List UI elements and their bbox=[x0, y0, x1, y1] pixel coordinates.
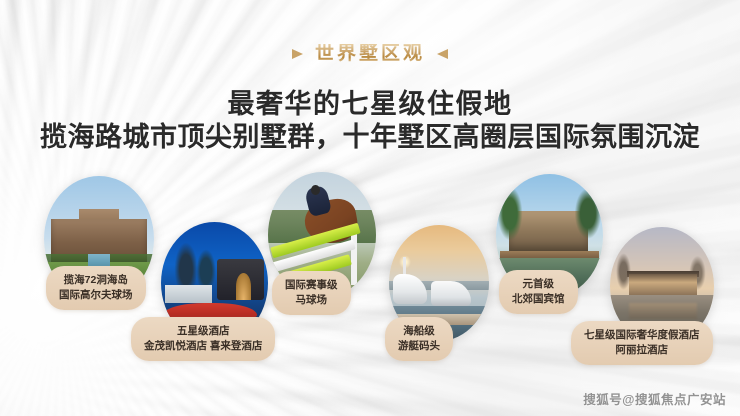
amenity-caption-line2: 阿丽拉酒店 bbox=[584, 343, 700, 358]
eyebrow-label: 世界墅区观 bbox=[315, 44, 425, 63]
slide-canvas: 世界墅区观 最奢华的七星级住假地 揽海路城市顶尖别墅群，十年墅区高圈层国际氛围沉… bbox=[0, 0, 740, 416]
amenity-caption-golf: 揽海72洞海岛 国际高尔夫球场 bbox=[46, 266, 146, 310]
amenity-caption-five-star-hotels: 五星级酒店 金茂凯悦酒店 喜来登酒店 bbox=[131, 317, 275, 361]
amenity-caption-line2: 金茂凯悦酒店 喜来登酒店 bbox=[144, 339, 262, 354]
headline-secondary: 揽海路城市顶尖别墅群，十年墅区高圈层国际氛围沉淀 bbox=[0, 115, 740, 154]
amenity-caption-line2: 游艇码头 bbox=[398, 339, 440, 354]
watermark: 搜狐号@搜狐焦点广安站 bbox=[583, 389, 726, 408]
slide-content: 世界墅区观 最奢华的七星级住假地 揽海路城市顶尖别墅群，十年墅区高圈层国际氛围沉… bbox=[0, 0, 740, 416]
amenity-caption-line1: 国际赛事级 bbox=[285, 278, 338, 293]
amenity-caption-state-guesthouse: 元首级 北郊国宾馆 bbox=[499, 270, 578, 314]
amenity-caption-polo-field: 国际赛事级 马球场 bbox=[272, 271, 351, 315]
amenity-caption-line1: 元首级 bbox=[512, 277, 565, 292]
amenity-caption-yacht-marina: 海船级 游艇码头 bbox=[385, 317, 453, 361]
amenity-caption-line2: 北郊国宾馆 bbox=[512, 292, 565, 307]
amenity-caption-line1: 海船级 bbox=[398, 324, 440, 339]
amenity-caption-line1: 揽海72洞海岛 bbox=[59, 273, 133, 288]
triangle-right-ornament-icon bbox=[437, 49, 448, 59]
amenity-caption-line2: 国际高尔夫球场 bbox=[59, 288, 133, 303]
watermark-text: 搜狐号@搜狐焦点广安站 bbox=[583, 389, 726, 408]
amenity-caption-line1: 五星级酒店 bbox=[144, 324, 262, 339]
amenity-caption-line2: 马球场 bbox=[285, 293, 338, 308]
eyebrow-row: 世界墅区观 bbox=[0, 44, 740, 63]
amenity-caption-line1: 七星级国际奢华度假酒店 bbox=[584, 328, 700, 343]
amenity-caption-alila-resort: 七星级国际奢华度假酒店 阿丽拉酒店 bbox=[571, 321, 713, 365]
triangle-left-ornament-icon bbox=[292, 49, 303, 59]
